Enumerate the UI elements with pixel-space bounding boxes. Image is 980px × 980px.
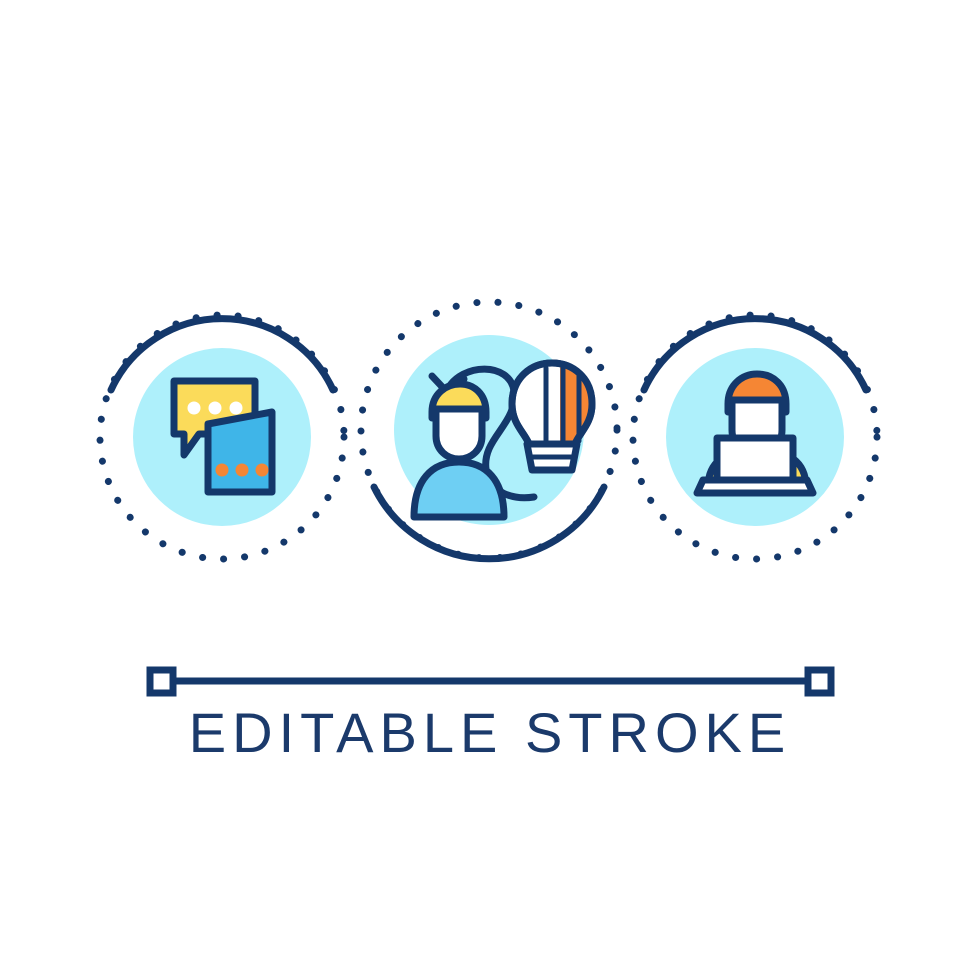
editable-stroke-bar xyxy=(150,670,831,693)
node-communication xyxy=(100,315,344,559)
stroke-bar-handle-right[interactable] xyxy=(808,670,831,693)
node-idea xyxy=(361,302,617,559)
concept-icon-illustration xyxy=(0,0,980,980)
idea-person-face-icon xyxy=(436,409,482,459)
yellow-bubble-dot-2 xyxy=(209,402,222,415)
blue-bubble-dot-2 xyxy=(236,464,249,477)
stroke-bar-handle-left[interactable] xyxy=(150,670,173,693)
laptop-base-icon xyxy=(697,480,813,493)
idea-person-body-icon xyxy=(414,462,504,517)
node-remote-work xyxy=(633,315,877,559)
blue-bubble-dot-3 xyxy=(256,464,269,477)
yellow-bubble-dot-1 xyxy=(188,402,201,415)
blue-chat-bubble-icon xyxy=(208,412,272,492)
caption-editable-stroke: EDITABLE STROKE xyxy=(0,700,980,765)
laptop-screen-icon xyxy=(717,438,793,480)
yellow-bubble-dot-3 xyxy=(230,402,243,415)
blue-bubble-dot-1 xyxy=(216,464,229,477)
illustration-canvas: EDITABLE STROKE xyxy=(0,0,980,980)
